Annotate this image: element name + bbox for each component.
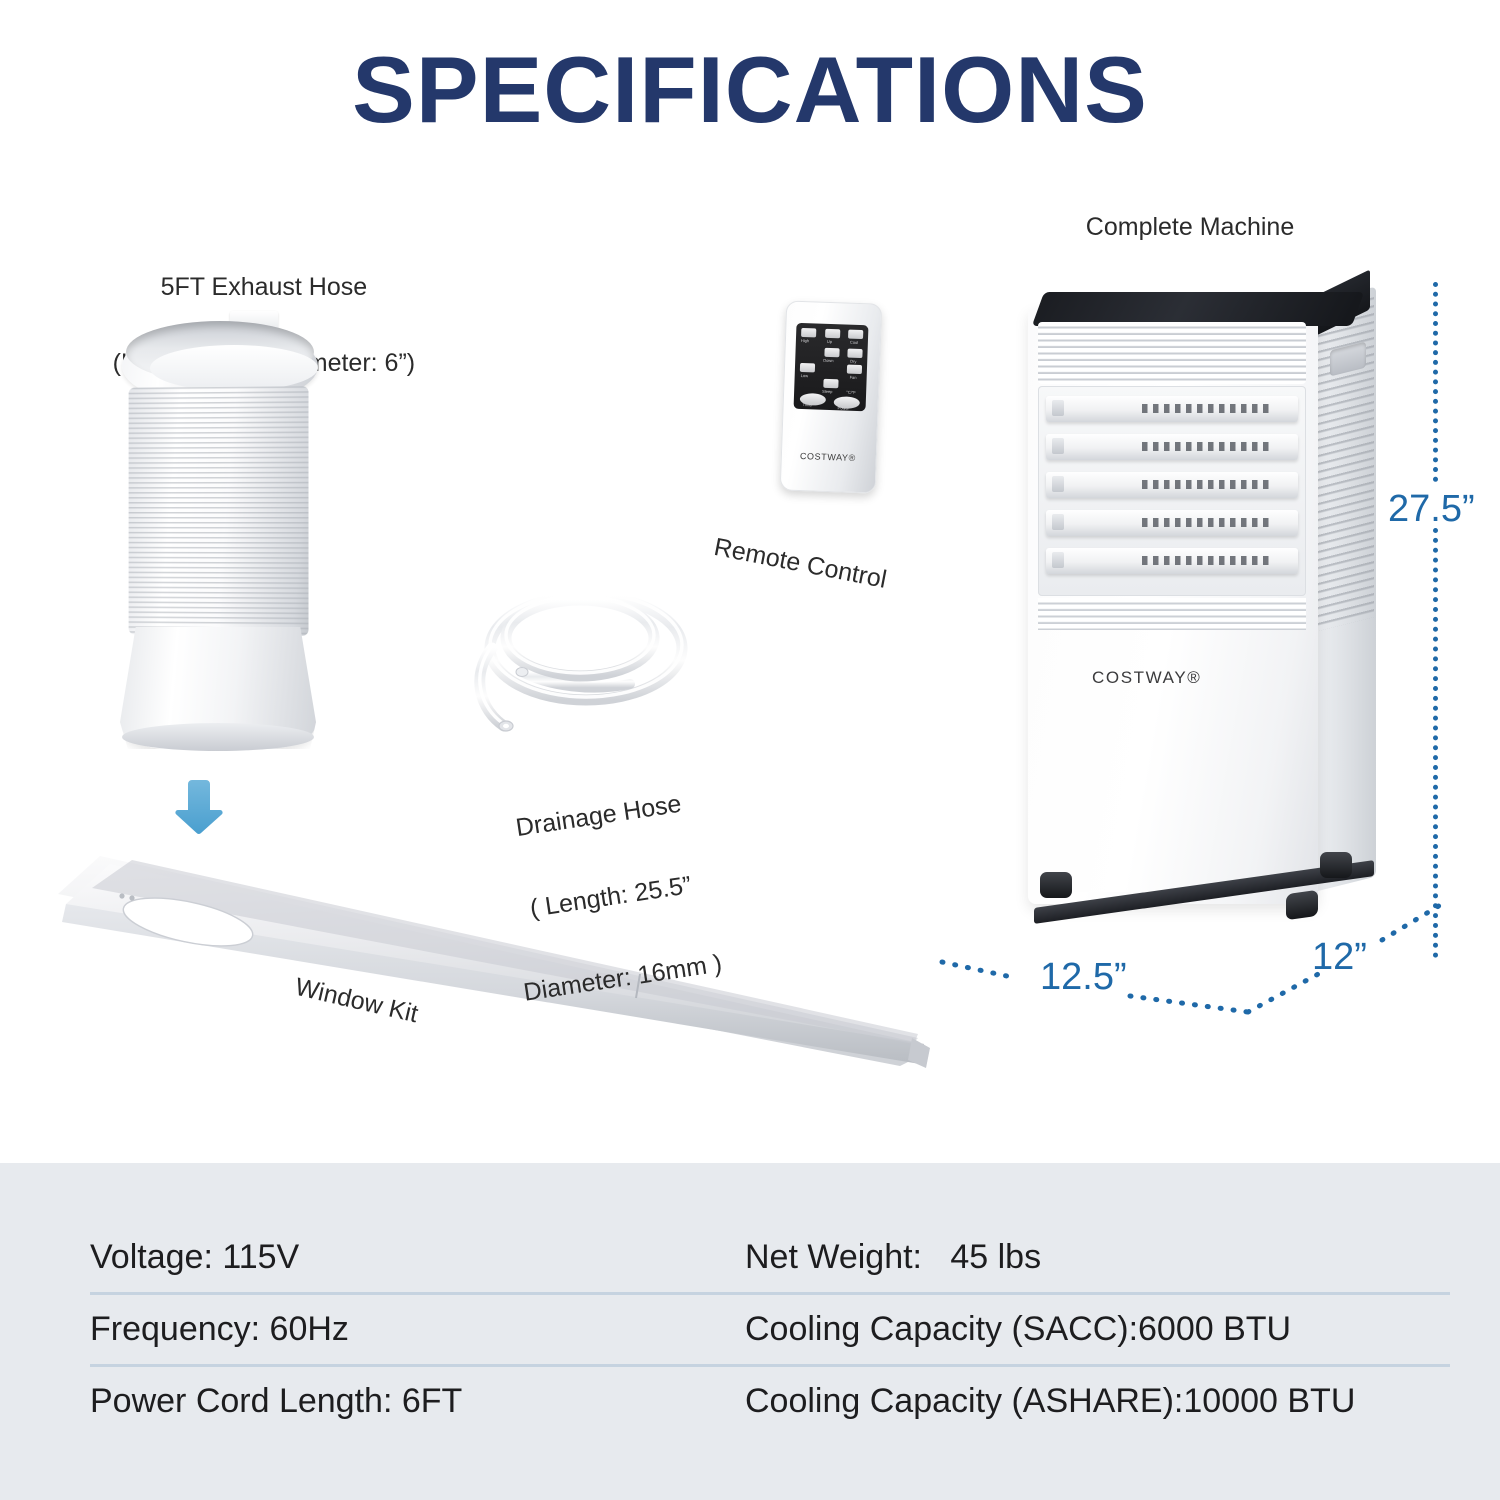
specifications-panel: Voltage: 115V Net Weight: 45 lbs Frequen… [0,1163,1500,1500]
ac-caster-back-right [1320,852,1352,878]
remote-button-up [825,329,840,339]
infographic-canvas: SPECIFICATIONS 5FT Exhaust Hose (Length:… [0,0,1500,1500]
remote-label-dry: Dry [850,359,856,364]
remote-control-image: High Up Cool Down Dry Low Fan Sleep °C/°… [780,300,881,491]
ac-louver-1 [1046,396,1298,422]
remote-button-fan [847,365,862,375]
spec-cooling-sacc: Cooling Capacity (SACC):6000 BTU [745,1292,1450,1364]
ac-caster-front-left [1040,872,1072,898]
hose-opening [126,321,314,383]
hose-adapter-lip [122,723,314,751]
remote-label-fan: Fan [850,375,857,380]
dimension-label-width: 12.5” [1040,956,1127,999]
remote-label-timer: Timer [803,402,813,407]
remote-label-unit: °C/°F [846,390,856,395]
exhaust-hose-title: 5FT Exhaust Hose [161,273,368,301]
remote-label-sleep: Sleep [822,389,832,394]
complete-machine-label: Complete Machine [1020,208,1360,246]
remote-button-high [801,328,816,338]
dimension-line-height-lower [1433,528,1438,958]
hose-corrugated-body [129,386,309,636]
remote-label-cool: Cool [850,340,858,345]
specifications-table: Voltage: 115V Net Weight: 45 lbs Frequen… [90,1223,1450,1436]
ac-control-top [1032,292,1364,326]
ac-louver-3 [1046,472,1298,498]
ac-brand-logo: COSTWAY® [1092,668,1201,688]
air-conditioner-image: COSTWAY® [1020,278,1390,928]
ac-louver-2 [1046,434,1298,460]
remote-label-high: High [801,338,809,343]
spec-voltage: Voltage: 115V [90,1223,745,1292]
drainage-hose-line1: ( Length: 25.5” [528,871,693,923]
remote-button-dry [847,349,862,359]
spec-cooling-ashare: Cooling Capacity (ASHARE):10000 BTU [745,1364,1450,1436]
ac-lower-vents [1038,598,1306,634]
dimension-line-height-upper [1433,282,1438,482]
remote-label-power: Power [838,405,850,410]
remote-button-panel: High Up Cool Down Dry Low Fan Sleep °C/°… [794,323,869,411]
spec-net-weight: Net Weight: 45 lbs [745,1223,1450,1292]
ac-louver-4 [1046,510,1298,536]
page-title: SPECIFICATIONS [0,36,1500,144]
dimension-label-depth: 12” [1312,936,1367,979]
hose-opening-inner [150,345,318,391]
dimension-label-height: 27.5” [1388,488,1475,531]
ac-front-grille [1038,386,1306,596]
spec-power-cord: Power Cord Length: 6FT [90,1364,745,1436]
remote-button-down [824,348,839,358]
remote-label-low: Low [801,373,809,378]
exhaust-hose-image [112,305,332,775]
remote-button-cool [848,330,863,340]
remote-label-down: Down [823,358,833,363]
remote-button-sleep [823,379,838,389]
drainage-hose-line2: Diameter: 16mm ) [522,949,724,1006]
remote-label-up: Up [827,339,832,344]
drainage-hose-label: Drainage Hose ( Length: 25.5” Diameter: … [413,733,782,1066]
drainage-hose-title: Drainage Hose [514,790,683,842]
remote-control-label: Remote Control [711,528,890,599]
remote-button-low [800,363,815,373]
dimension-lines-base [930,900,1490,1030]
spec-frequency: Frequency: 60Hz [90,1292,745,1364]
ac-louver-5 [1046,548,1298,574]
drainage-hose-image [452,560,708,760]
ac-upper-vents [1038,322,1306,384]
